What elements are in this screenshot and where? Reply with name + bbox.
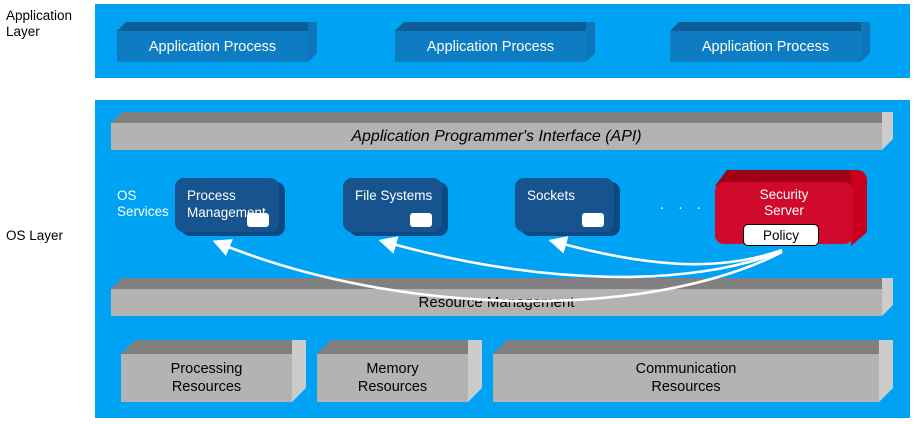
application-process-block[interactable]: Application Process [395,22,595,62]
api-bar-label: Application Programmer's Interface (API) [111,123,882,150]
bar-side-face [882,112,893,150]
block-top-face [117,22,317,31]
security-hook-icon [582,213,604,227]
block-top-face [317,340,482,354]
service-box-sockets[interactable]: Sockets [515,178,620,236]
security-hook-icon [247,213,269,227]
application-process-block[interactable]: Application Process [670,22,870,62]
service-label: File Systems [355,187,432,204]
policy-box[interactable]: Policy [743,224,819,246]
os-layer-panel: Application Programmer's Interface (API)… [95,100,910,418]
bar-top-face [111,112,893,123]
block-side-face [292,340,306,402]
resource-block-communication[interactable]: Communication Resources [493,340,893,402]
box-side-face [851,170,867,246]
security-server-label: Security Server [715,187,853,219]
os-architecture-diagram: Application Layer OS Layer Application P… [0,0,917,424]
resource-block-processing[interactable]: Processing Resources [121,340,306,402]
block-top-face [670,22,870,31]
os-layer-label: OS Layer [6,228,92,244]
block-side-face [879,340,893,402]
block-side-face [468,340,482,402]
application-layer-label: Application Layer [6,8,92,40]
os-services-label: OS Services [117,188,169,220]
resource-management-label: Resource Management [111,289,882,316]
security-hook-icon [410,213,432,227]
block-side-face [861,22,870,62]
application-process-label: Application Process [670,31,861,62]
application-layer-panel: Application Process Application Process … [95,4,910,78]
block-side-face [586,22,595,62]
resource-label: Communication Resources [493,354,879,402]
application-process-label: Application Process [395,31,586,62]
security-server-box[interactable]: Security Server Policy [715,170,867,246]
block-top-face [121,340,306,354]
block-top-face [493,340,893,354]
block-side-face [308,22,317,62]
resource-label: Processing Resources [121,354,292,402]
resource-label: Memory Resources [317,354,468,402]
application-process-label: Application Process [117,31,308,62]
resource-block-memory[interactable]: Memory Resources [317,340,482,402]
block-top-face [395,22,595,31]
api-bar[interactable]: Application Programmer's Interface (API) [111,112,893,150]
service-box-process-management[interactable]: Process Management [175,178,285,236]
service-box-file-systems[interactable]: File Systems [343,178,448,236]
bar-top-face [111,278,893,289]
resource-management-bar[interactable]: Resource Management [111,278,893,316]
application-process-block[interactable]: Application Process [117,22,317,62]
bar-side-face [882,278,893,316]
service-label: Sockets [527,187,575,204]
services-ellipsis: . . . [660,196,706,213]
